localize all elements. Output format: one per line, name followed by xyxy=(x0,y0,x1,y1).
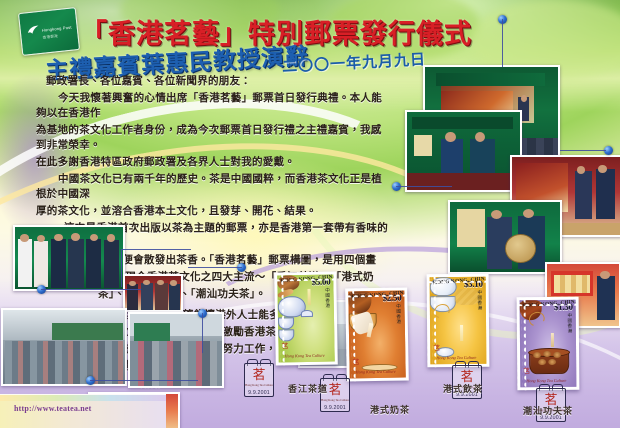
speech-line: 厚的茶文化，並溶合香港本土文化，且發芽、開花、結果。 xyxy=(36,204,388,219)
stamp-seal-glyph: 茗 xyxy=(433,344,441,355)
postmark-date: 9.9.2001 xyxy=(320,405,350,411)
connector-line xyxy=(90,380,198,381)
stamp-brandline: Hong Kong Tea Culture xyxy=(436,355,476,360)
connector-line xyxy=(121,249,122,287)
kungfu-cup xyxy=(553,352,561,358)
stamp-brandline: Hong Kong Tea Culture xyxy=(356,369,396,375)
speech-line: 為基地的茶文化工作者身份，成為今次郵票首日發行禮之主禮嘉賓，我感到非常榮幸。 xyxy=(36,123,388,153)
speech-line: 在此多謝香港特區政府郵政署及各界人士對我的愛戴。 xyxy=(36,155,388,170)
post-bird-icon xyxy=(25,23,41,39)
stamp-seal-glyph: 茗 xyxy=(281,342,289,353)
stamp-country-chinese: 中國香港 xyxy=(324,288,330,309)
connector-line xyxy=(41,289,141,290)
pour-stream xyxy=(307,289,310,305)
speech-line: 郵政署長、各位嘉賓、各位新聞界的朋友： xyxy=(36,74,388,89)
postmark-label: Hong Kong Tea Culture xyxy=(245,383,273,387)
stamp-country-chinese: 中國香港 xyxy=(566,313,572,334)
stamp-caption-4: 潮汕功夫茶 xyxy=(523,404,573,417)
logo-chinese-name: 香港郵政 xyxy=(42,34,58,41)
photo-speakers-podium xyxy=(405,110,522,192)
stamp-issue-poster: Hongkong Post 香港郵政 「香港茗藝」特別郵票發行儀式 主禮嘉賓葉惠… xyxy=(0,0,620,428)
connector-line xyxy=(560,150,606,151)
pour-stream xyxy=(551,333,554,347)
photo-queue-hall xyxy=(1,308,127,386)
kungfu-cup xyxy=(538,359,546,365)
stamp-denomination: $3.10 xyxy=(464,279,483,289)
postmark-label: Hong Kong Tea Culture xyxy=(321,398,349,402)
stamp-seal-glyph: 茗 xyxy=(523,367,531,378)
kungfu-cup xyxy=(548,359,556,365)
connector-line xyxy=(188,267,242,268)
stamp-hong-kong-style-milk-tea: HONG KONG, CHINA $2.50 中國香港 茗 Hong Kong … xyxy=(345,287,409,381)
postmark-date: 9.9.2001 xyxy=(244,390,274,396)
stamp-chiu-chow-kung-fu-tea: HONG KONG, CHINA $1.30 中國香港 茗 Hong Kong … xyxy=(517,297,580,391)
stamp-country-chinese: 中國香港 xyxy=(395,304,401,325)
photo-group-portrait xyxy=(13,225,125,291)
pour-stream xyxy=(460,325,463,341)
speech-line: 今天我懷著興奮的心情出席「香港茗藝」郵票首日發行典禮。本人能夠以在香港作 xyxy=(36,91,388,121)
postmark-glyph: 茗 xyxy=(252,369,265,383)
footer-stripe xyxy=(0,395,166,401)
stamp-caption-3: 港式飲茶 xyxy=(443,382,483,395)
stamp-denomination: $1.30 xyxy=(554,302,573,312)
kungfu-cup xyxy=(533,352,541,358)
connector-line xyxy=(202,313,203,353)
footer-url-bar: http://www.teatea.net xyxy=(0,394,166,428)
stamp-country-chinese: 中國香港 xyxy=(476,290,482,311)
hongkong-post-logo: Hongkong Post 香港郵政 xyxy=(18,7,80,56)
speech-line: 中國茶文化已有兩千年的歷史。茶是中國國粹，而香港茶文化正是植根於中國深 xyxy=(36,172,388,202)
photo-guests-chatting xyxy=(123,274,183,312)
postmark-1: 茗 Hong Kong Tea Culture 9.9.2001 xyxy=(244,363,274,397)
bamboo-steamer xyxy=(455,289,479,305)
porcelain-cup xyxy=(278,329,294,341)
porcelain-cup xyxy=(278,317,294,329)
stamp-caption-1: 香江茶道 xyxy=(288,382,328,395)
connector-line xyxy=(502,19,503,67)
stamp-seal-glyph: 茗 xyxy=(352,358,360,369)
connector-line xyxy=(121,249,191,250)
connector-line xyxy=(396,186,452,187)
photo-post-office-counter xyxy=(128,312,224,388)
logo-wordmark: Hongkong Post xyxy=(42,25,72,33)
stamp-caption-2: 港式奶茶 xyxy=(370,403,410,416)
stamp-hong-kong-style-yum-cha: HONG KONG, CHINA $3.10 中國香港 茗 Hong Kong … xyxy=(427,274,490,368)
website-url[interactable]: http://www.teatea.net xyxy=(14,404,92,413)
porcelain-lid xyxy=(301,310,313,317)
stamp-denomination: $2.50 xyxy=(383,293,402,303)
stamp-brandline: Hong Kong Tea Culture xyxy=(285,353,325,359)
stamp-brandline: Hong Kong Tea Culture xyxy=(526,378,566,383)
stamp-denomination: $5.00 xyxy=(312,277,331,287)
kungfu-cup xyxy=(543,351,551,357)
postmark-glyph: 茗 xyxy=(328,384,341,398)
stamp-hong-kong-tea-ceremony: HONG KONG, CHINA $5.00 中國香港 茗 Hong Kong … xyxy=(274,271,338,365)
